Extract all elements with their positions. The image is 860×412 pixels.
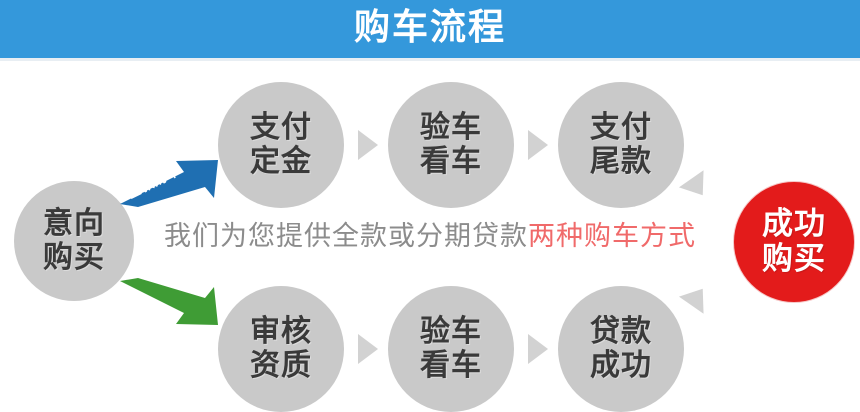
node-inspect-car-bottom-line2: 看车 xyxy=(420,349,482,383)
node-pay-deposit[interactable]: 支付 定金 xyxy=(218,82,344,208)
connector-triangle-top-to-end xyxy=(679,170,715,204)
node-inspect-car-bottom-line1: 验车 xyxy=(420,315,482,349)
connector-triangle-bottom-1 xyxy=(358,334,378,364)
node-review-qualification-line1: 审核 xyxy=(250,315,312,349)
page-title: 购车流程 xyxy=(0,0,860,58)
node-review-qualification-line2: 资质 xyxy=(250,349,312,383)
connector-triangle-bottom-to-end xyxy=(679,280,715,314)
node-loan-success-line2: 成功 xyxy=(590,349,652,383)
center-caption: 我们为您提供全款或分期贷款两种购车方式 xyxy=(0,220,860,254)
center-caption-red: 两种购车方式 xyxy=(528,221,696,252)
node-pay-deposit-line2: 定金 xyxy=(250,145,312,179)
branch-arrow-installment[interactable]: 分期购车 xyxy=(118,277,228,323)
node-pay-deposit-line1: 支付 xyxy=(250,111,312,145)
flowchart-canvas: 购车流程 意向 购买 全款购车 分期购车 支付 定金 验车 看车 支付 尾款 审… xyxy=(0,0,860,412)
node-review-qualification[interactable]: 审核 资质 xyxy=(218,286,344,412)
connector-triangle-top-1 xyxy=(358,130,378,160)
node-inspect-car-top-line1: 验车 xyxy=(420,111,482,145)
node-inspect-car-top-line2: 看车 xyxy=(420,145,482,179)
node-inspect-car-top[interactable]: 验车 看车 xyxy=(388,82,514,208)
node-inspect-car-bottom[interactable]: 验车 看车 xyxy=(388,286,514,412)
branch-arrow-full-payment[interactable]: 全款购车 xyxy=(118,160,228,206)
node-pay-balance[interactable]: 支付 尾款 xyxy=(558,82,684,208)
node-loan-success-line1: 贷款 xyxy=(590,315,652,349)
node-loan-success[interactable]: 贷款 成功 xyxy=(558,286,684,412)
connector-triangle-bottom-2 xyxy=(528,334,548,364)
header-divider xyxy=(0,58,860,61)
connector-triangle-top-2 xyxy=(528,130,548,160)
node-pay-balance-line1: 支付 xyxy=(590,111,652,145)
node-pay-balance-line2: 尾款 xyxy=(590,145,652,179)
center-caption-gray: 我们为您提供全款或分期贷款 xyxy=(164,221,528,252)
